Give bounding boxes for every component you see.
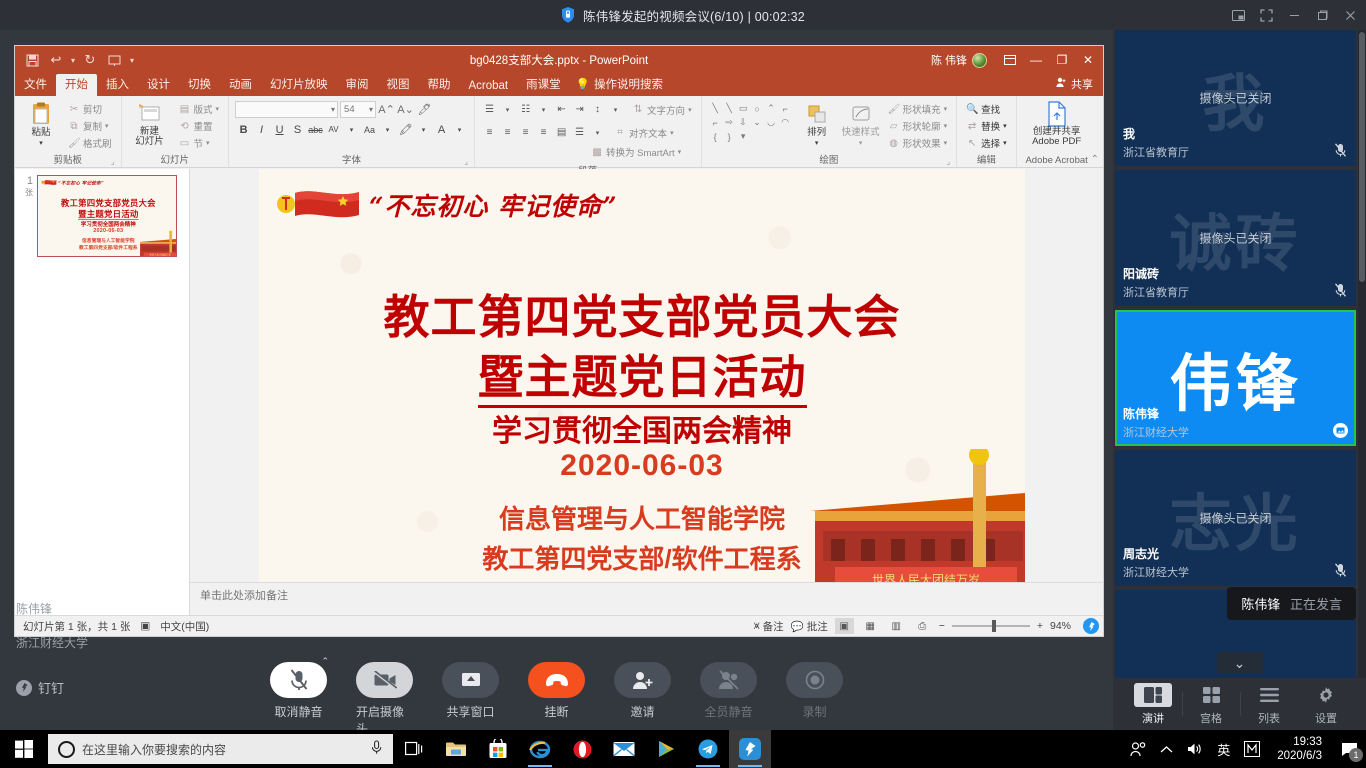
layout-icon: ▤ [179,104,191,115]
paragraph-row-top: ☰ ▾ ☷ ▾ ⇤ ⇥ ↕ ▾ ⇅ 文字方向 ▾ [479,98,697,121]
mic-muted-icon [1332,282,1348,298]
share-window-control[interactable]: 共享窗口 [442,662,499,737]
paste-button[interactable]: 粘贴 ▾ [19,98,63,149]
shapes-more-icon[interactable]: ▾ [737,130,750,143]
text-direction-button[interactable]: ⇅ 文字方向 ▾ [629,102,695,118]
new-slide-icon [139,101,161,127]
participant-org: 浙江省教育厅 [1123,144,1189,160]
arrange-button[interactable]: 排列 ▾ [795,98,839,149]
change-case-icon[interactable]: Aa [361,121,378,138]
participant-name: 阳诚砖 [1123,265,1159,282]
dialog-launcher-icon[interactable]: ⌟ [946,157,950,166]
shapes-scroll-down-icon[interactable]: ⌄ [751,116,764,129]
chevron-down-icon: ▾ [688,106,692,114]
hangup-control[interactable]: 挂断 [528,662,585,737]
bullets-icon[interactable]: ☰ [481,101,498,118]
participant-tiles: 我 摄像头已关闭 我 浙江省教育厅 诚砖 摄像头已关闭 阳诚砖 浙江省教育厅 伟… [1113,30,1358,678]
mail-icon[interactable] [603,730,645,768]
replace-button[interactable]: ⇄ 替换 ▾ [963,118,1010,134]
reset-icon: ⟲ [179,121,191,132]
show-hidden-icons-icon[interactable] [1153,730,1180,768]
shape-brace-right-icon[interactable]: } [723,130,736,143]
section-dropdown-icon: ▾ [206,139,210,147]
dialog-launcher-icon[interactable]: ⌟ [464,157,468,166]
close-icon[interactable] [1343,8,1358,23]
file-explorer-icon[interactable] [435,730,477,768]
local-user-name-overlay: 陈伟锋 [16,600,52,617]
mute-all-label: 全员静音 [704,703,752,720]
zoom-slider-thumb[interactable] [992,620,996,632]
mute-all-icon[interactable] [700,662,757,698]
chevron-down-icon[interactable]: ▾ [343,121,360,138]
smartart-label: 转换为 SmartArt [606,145,675,159]
copy-icon: ⧉ [68,121,80,132]
new-slide-button[interactable]: 新建 幻灯片 [126,98,174,147]
share-screen-icon[interactable] [442,662,499,698]
slides-group-label: 幻灯片 [126,152,225,167]
internet-explorer-icon[interactable] [519,730,561,768]
editing-group-label: 编辑 [961,152,1012,167]
increase-indent-icon[interactable]: ⇥ [571,101,588,118]
participant-rail: 我 摄像头已关闭 我 浙江省教育厅 诚砖 摄像头已关闭 阳诚砖 浙江省教育厅 伟… [1113,30,1366,730]
ribbon-group-drawing: ╲ ╲ ▭ ○ ⌃ ⌐ ⌐ ⇨ ⇩ ⌄ ◡ ◠ { } ▾ [702,96,958,167]
zoom-level[interactable]: 94% [1050,620,1071,632]
slide-title-line2: 暨主题党日活动 [38,208,177,220]
cut-button[interactable]: ✂ 剪切 [65,101,115,117]
clipboard-label-text: 剪贴板 [54,155,83,166]
clock-date: 2020/6/3 [1277,749,1322,763]
chevron-down-icon: ▾ [815,138,819,149]
increase-font-size-icon[interactable]: A⌃ [378,101,395,118]
select-label: 选择 [981,136,1000,150]
slide-thumbnail[interactable]: “不忘初心 牢记使命” 教工第四党支部党员大会 暨主题党日活动 学习贯彻全国两会… [37,175,177,257]
status-left: 幻灯片第 1 张，共 1 张 ▣ 中文(中国) [15,619,209,634]
view-mode-speaker-label: 演讲 [1142,710,1164,726]
status-right: ⩙ 备注 💬 批注 ▣ ▦ ▥ ⎙ − + 94% ⛶ [754,618,1103,634]
accessibility-icon[interactable]: ▣ [140,620,150,632]
shape-elbow2-icon[interactable]: ⌐ [709,116,722,129]
chevron-down-icon: ▾ [678,148,682,156]
chevron-down-icon[interactable]: ▾ [379,121,396,138]
maximize-icon[interactable] [1315,8,1330,23]
call-controls: ⌃ 取消静音 开启摄像头 共享窗口 挂断 [0,662,1113,737]
share-window-label: 共享窗口 [446,703,494,720]
paragraph-row-bottom: ≡ ≡ ≡ ≡ ▤ ☰ ▾ ⌗ 对齐文本 ▾ [479,121,679,144]
shapes-scroll-up-icon[interactable]: ⌃ [765,102,778,115]
quick-styles-icon [850,101,872,127]
view-mode-list-label: 列表 [1258,710,1280,726]
powerpoint-window-right: 陈 伟锋 — ❐ ✕ [931,48,1103,72]
slides-small-buttons: ▤ 版式 ▾ ⟲ 重置 ▭ 节 ▾ [174,98,225,151]
participant-tile-active[interactable]: 伟锋 陈伟锋 浙江财经大学 [1115,310,1356,446]
grid-view-icon [1192,683,1230,707]
shape-effects-icon: ◍ [888,138,900,149]
drawing-group-label: 绘图 ⌟ [706,152,953,167]
dingtalk-icon[interactable] [729,730,771,768]
select-button[interactable]: ↖ 选择 ▾ [963,135,1010,151]
tiananmen-image: 世界人民大团结万岁 [775,449,1025,599]
view-mode-grid[interactable]: 宫格 [1183,683,1240,726]
hangup-icon[interactable] [528,662,585,698]
ribbon-group-paragraph: ☰ ▾ ☷ ▾ ⇤ ⇥ ↕ ▾ ⇅ 文字方向 ▾ [475,96,702,167]
reset-button[interactable]: ⟲ 重置 [176,118,223,134]
speaking-name: 陈伟锋 [1241,597,1280,612]
shape-arrow-right-icon[interactable]: ⇨ [723,116,736,129]
shape-effects-label: 形状效果 [903,136,941,150]
columns-icon[interactable]: ☰ [571,124,588,141]
paintbrush-icon: 🖌 [68,138,80,149]
shape-outline-button[interactable]: ▱ 形状轮廓 ▾ [885,118,951,134]
align-center-icon[interactable]: ≡ [499,124,516,141]
quick-styles-label: 快速样式 [842,127,880,138]
copy-dropdown-icon: ▾ [105,122,109,130]
shape-arrow-down-icon[interactable]: ⇩ [737,116,750,129]
comments-toggle-button[interactable]: 💬 批注 [791,619,828,634]
chevron-down-icon: ▾ [369,105,373,114]
hangup-label: 挂断 [544,703,568,720]
speaking-status: 正在发言 [1290,597,1342,612]
minimize-icon[interactable]: — [1023,48,1049,72]
powerpoint-status-bar: 幻灯片第 1 张，共 1 张 ▣ 中文(中国) ⩙ 备注 💬 批注 ▣ ▦ ▥ [15,615,1103,636]
customize-qat-icon[interactable]: ▾ [127,49,137,71]
picture-in-picture-icon[interactable] [1231,8,1246,23]
speaking-toast: 陈伟锋 正在发言 [1227,587,1356,620]
shape-curve2-icon[interactable]: ◠ [779,116,792,129]
tab-home[interactable]: 开始 [56,74,97,96]
meeting-title-bar: 陈伟锋发起的视频会议(6/10) | 00:02:32 [0,0,1366,30]
convert-to-smartart-button[interactable]: ▩ 转换为 SmartArt ▾ [588,144,684,160]
invite-icon[interactable] [614,662,671,698]
find-button[interactable]: 🔍 查找 [963,101,1010,117]
task-view-icon[interactable] [393,730,435,768]
notes-pane[interactable]: 单击此处添加备注 [190,582,1103,614]
text-shadow-icon[interactable]: S [289,121,306,138]
chevron-down-icon: ▾ [859,138,863,149]
ribbon-group-slides: 新建 幻灯片 ▤ 版式 ▾ ⟲ 重置 ▭ [122,96,230,167]
section-icon: ▭ [179,138,191,149]
zoom-slider[interactable] [952,625,1030,627]
notification-center-icon[interactable]: 1 [1332,730,1366,768]
format-painter-button[interactable]: 🖌 格式刷 [65,135,115,151]
replace-label: 替换 [981,119,1000,133]
unmute-label: 取消静音 [274,703,322,720]
font-family-select[interactable]: ▾ [235,101,338,118]
participant-name: 周志光 [1123,545,1159,562]
camera-off-label: 摄像头已关闭 [1115,90,1356,107]
powerpoint-title-bar: ↩ ▾ ↻ ▾ bg0428支部大会.pptx - PowerPoint 陈 伟… [15,46,1103,74]
normal-view-icon[interactable]: ▣ [835,618,854,634]
microsoft-store-icon[interactable] [477,730,519,768]
notes-toggle-button[interactable]: ⩙ 备注 [754,619,784,634]
italic-icon[interactable]: I [253,121,270,138]
slide-thumbnail-panel: 1 张 [15,169,190,636]
text-direction-label: 文字方向 [647,103,685,117]
mic-muted-icon [1332,562,1348,578]
clock-time: 19:33 [1293,735,1322,749]
create-share-pdf-button[interactable]: 创建并共享 Adobe PDF [1021,98,1093,147]
invite-label: 邀请 [630,703,654,720]
chevron-down-icon: ▾ [331,105,335,114]
gear-icon [1307,683,1345,707]
tab-acrobat[interactable]: Acrobat [460,78,518,96]
undo-icon[interactable]: ↩ [45,49,67,71]
ribbon: 粘贴 ▾ ✂ 剪切 ⧉ 复制 ▾ [15,96,1103,168]
paste-icon [30,101,52,127]
share-person-icon [1056,77,1067,91]
chevron-down-icon: ⌄ [1234,655,1246,672]
unmute-control[interactable]: ⌃ 取消静音 [270,662,327,737]
avatar[interactable] [972,53,987,68]
paragraph-row-smartart: ▩ 转换为 SmartArt ▾ [479,144,686,163]
chevron-down-icon[interactable]: ▾ [607,101,624,118]
view-mode-speaker[interactable]: 演讲 [1125,683,1182,726]
media-player-icon[interactable] [645,730,687,768]
comments-toggle-label: 批注 [807,619,828,634]
slide-editing-area: “不忘初心 牢记使命” 教工第四党支部党员大会 暨主题党日活动 学习贯彻全国两会… [190,169,1103,636]
clear-formatting-icon[interactable]: 🖊 [416,101,433,118]
slide-subtitle: 学习贯彻全国两会精神 [259,406,1025,450]
windows-taskbar: 在这里输入你要搜索的内容 [0,730,1366,768]
shape-outline-icon: ▱ [888,121,900,132]
strikethrough-icon[interactable]: abc [307,121,324,138]
comment-icon: 💬 [791,620,804,633]
ribbon-group-acrobat: 创建并共享 Adobe PDF Adobe Acrobat [1017,96,1097,167]
drawing-small-buttons: 🖌 形状填充 ▾ ▱ 形状轮廓 ▾ ◍ 形状效果 ▾ [883,98,953,151]
notification-count: 1 [1349,748,1363,762]
shape-curve-icon[interactable]: ◡ [765,116,778,129]
slide-number-text: 1 [27,175,33,187]
participant-scrollbar[interactable] [1358,30,1366,678]
shape-fill-icon: 🖌 [888,104,900,115]
view-mode-list[interactable]: 列表 [1241,683,1298,726]
svg-text:世界人民大团结万岁: 世界人民大团结万岁 [150,253,172,257]
tab-transitions[interactable]: 切换 [179,74,220,96]
close-icon[interactable]: ✕ [1075,48,1101,72]
participant-org: 浙江财经大学 [1123,424,1189,440]
local-user-org-overlay: 浙江财经大学 [16,634,88,651]
chevron-down-icon[interactable]: ▾ [451,121,468,138]
line-spacing-icon[interactable]: ↕ [589,101,606,118]
tab-animations[interactable]: 动画 [220,74,261,96]
font-label-text: 字体 [342,155,361,166]
shape-rectangle-icon[interactable]: ▭ [737,102,750,115]
quick-access-toolbar: ↩ ▾ ↻ ▾ [15,49,137,71]
ribbon-group-editing: 🔍 查找 ⇄ 替换 ▾ ↖ 选择 ▾ [957,96,1017,167]
chevron-down-icon: ▾ [1003,139,1007,147]
start-button[interactable] [0,730,48,768]
clipboard-group-label: 剪贴板 ⌟ [19,152,117,167]
align-text-icon: ⌗ [614,127,626,138]
decrease-font-size-icon[interactable]: A⌄ [397,101,414,118]
scroll-down-button[interactable]: ⌄ [1217,652,1263,674]
text-highlight-icon[interactable]: 🖍 [397,121,414,138]
clock[interactable]: 19:33 2020/6/3 [1267,730,1332,768]
quick-styles-button[interactable]: 快速样式 ▾ [839,98,883,149]
mic-muted-icon[interactable]: ⌃ [270,662,327,698]
participant-tile[interactable]: 诚砖 摄像头已关闭 阳诚砖 浙江省教育厅 [1115,170,1356,306]
share-button[interactable]: 共享 [1046,74,1103,96]
slide-count-status[interactable]: 幻灯片第 1 张，共 1 张 [23,619,130,634]
list-view-icon [1250,683,1288,707]
tab-view[interactable]: 视图 [378,74,419,96]
powerpoint-workspace: 1 张 [15,169,1103,636]
zoom-out-icon[interactable]: − [939,620,945,632]
shape-effects-button[interactable]: ◍ 形状效果 ▾ [885,135,951,151]
shape-brace-left-icon[interactable]: { [709,130,722,143]
layout-label: 版式 [194,102,213,116]
dialog-launcher-icon[interactable]: ⌟ [111,157,115,166]
paste-dropdown-icon[interactable]: ▾ [39,138,43,149]
section-label: 节 [194,136,204,150]
character-spacing-icon[interactable]: AV [325,121,342,138]
redo-icon[interactable]: ↻ [79,49,101,71]
view-mode-grid-label: 宫格 [1200,710,1222,726]
participant-name: 陈伟锋 [1123,405,1159,422]
participant-name: 我 [1123,125,1135,142]
tab-slideshow[interactable]: 幻灯片放映 [261,74,337,96]
slide-number: 1 张 [19,175,33,257]
scissors-icon: ✂ [68,104,80,115]
slide-canvas[interactable]: “不忘初心 牢记使命” 教工第四党支部党员大会 暨主题党日活动 学习贯彻全国两会… [259,169,1025,599]
dingtalk-share-indicator-icon [1083,618,1099,634]
lightbulb-icon: 💡 [576,77,590,91]
underline-icon[interactable]: U [271,121,288,138]
mic-muted-icon [1332,142,1348,158]
editing-buttons: 🔍 查找 ⇄ 替换 ▾ ↖ 选择 ▾ [961,98,1012,151]
camera-off-icon[interactable] [356,662,413,698]
telegram-icon[interactable] [687,730,729,768]
chevron-down-icon[interactable]: ▾ [415,121,432,138]
bold-icon[interactable]: B [235,121,252,138]
distribute-icon[interactable]: ▤ [553,124,570,141]
invite-control[interactable]: 邀请 [614,662,671,737]
screen: 陈伟锋发起的视频会议(6/10) | 00:02:32 [0,0,1366,768]
font-color-icon[interactable]: A [433,121,450,138]
mute-all-control[interactable]: 全员静音 [700,662,757,737]
tab-insert[interactable]: 插入 [97,74,138,96]
ribbon-tabs: 文件 开始 插入 设计 切换 动画 幻灯片放映 审阅 视图 帮助 Acrobat… [15,74,1103,96]
tab-help[interactable]: 帮助 [419,74,460,96]
collapse-ribbon-icon[interactable]: ⌃ [1091,154,1099,165]
chevron-down-icon[interactable]: ▾ [535,101,552,118]
opera-icon[interactable] [561,730,603,768]
slide-number-sub: 张 [19,187,33,199]
chevron-down-icon: ▾ [944,122,948,130]
undo-dropdown-icon[interactable]: ▾ [69,49,77,71]
language-status[interactable]: 中文(中国) [160,619,209,634]
tell-me-box[interactable]: 💡 操作说明搜索 [570,74,669,96]
microphone-icon[interactable] [370,740,387,758]
tell-me-label: 操作说明搜索 [594,76,663,92]
shape-line-icon[interactable]: ╲ [709,102,722,115]
save-icon[interactable] [21,49,43,71]
justify-icon[interactable]: ≡ [535,124,552,141]
shape-elbow-icon[interactable]: ⌐ [779,102,792,115]
zoom-in-icon[interactable]: + [1037,620,1043,632]
thumbnail-preview: “不忘初心 牢记使命” 教工第四党支部党员大会 暨主题党日活动 学习贯彻全国两会… [38,176,177,257]
chevron-down-icon[interactable]: ▾ [589,124,606,141]
shapes-gallery[interactable]: ╲ ╲ ▭ ○ ⌃ ⌐ ⌐ ⇨ ⇩ ⌄ ◡ ◠ { } ▾ [706,98,795,143]
participant-org: 浙江财经大学 [1123,564,1189,580]
scrollbar-thumb[interactable] [1359,32,1365,282]
arrange-icon [806,101,828,127]
slide-title-line2-text: 暨主题党日活动 [478,351,807,408]
record-label: 录制 [802,703,826,720]
align-right-icon[interactable]: ≡ [517,124,534,141]
volume-icon[interactable] [1180,730,1210,768]
camera-control[interactable]: 开启摄像头 [356,662,413,737]
reading-view-icon[interactable]: ▥ [887,618,906,634]
create-share-pdf-label: 创建并共享 Adobe PDF [1032,127,1081,147]
participant-tile[interactable]: 我 摄像头已关闭 我 浙江省教育厅 [1115,30,1356,166]
align-text-button[interactable]: ⌗ 对齐文本 ▾ [611,125,677,141]
shape-fill-button[interactable]: 🖌 形状填充 ▾ [885,101,951,117]
slide-sorter-icon[interactable]: ▦ [861,618,880,634]
shape-line2-icon[interactable]: ╲ [723,102,736,115]
record-icon[interactable] [786,662,843,698]
chevron-down-icon: ▾ [944,105,948,113]
font-size-select[interactable]: 54 ▾ [340,101,376,118]
system-tray: 英 19:33 2020/6/3 1 [1123,730,1366,768]
people-icon[interactable] [1123,730,1153,768]
reset-label: 重置 [194,119,213,133]
ime-mode-icon[interactable] [1237,730,1267,768]
slideshow-icon[interactable]: ⎙ [913,618,932,634]
cortana-icon [58,741,75,758]
tab-review[interactable]: 审阅 [337,74,378,96]
layout-dropdown-icon: ▾ [216,105,220,113]
search-input[interactable]: 在这里输入你要搜索的内容 [48,734,393,764]
chevron-down-icon[interactable]: ▾ [499,101,516,118]
shape-outline-label: 形状轮廓 [903,119,941,133]
layout-button[interactable]: ▤ 版式 ▾ [176,101,223,117]
arrange-label: 排列 [807,127,826,138]
meeting-title: 陈伟锋发起的视频会议(6/10) | 00:02:32 [583,6,805,25]
shape-fill-label: 形状填充 [903,102,941,116]
tab-rain-classroom[interactable]: 雨课堂 [517,74,570,96]
slide-slogan: “不忘初心 牢记使命” [369,187,617,223]
chevron-up-icon[interactable]: ⌃ [321,656,329,667]
font-row-top: ▾ 54 ▾ A⌃ A⌄ 🖊 [233,98,435,120]
new-slide-label: 新建 幻灯片 [135,127,164,147]
camera-off-label: 摄像头已关闭 [1115,230,1356,247]
thumbnail-row: 1 张 [19,175,185,257]
decrease-indent-icon[interactable]: ⇤ [553,101,570,118]
copy-label: 复制 [83,119,102,133]
tab-design[interactable]: 设计 [138,74,179,96]
start-presentation-icon[interactable] [103,49,125,71]
shape-oval-icon[interactable]: ○ [751,102,764,115]
numbering-icon[interactable]: ☷ [517,101,534,118]
participant-tile[interactable]: 志光 摄像头已关闭 周志光 浙江财经大学 [1115,450,1356,586]
camera-off-label: 摄像头已关闭 [1115,510,1356,527]
tab-file[interactable]: 文件 [15,74,56,96]
align-left-icon[interactable]: ≡ [481,124,498,141]
restore-icon[interactable]: ❐ [1049,48,1075,72]
record-control[interactable]: 录制 [786,662,843,737]
view-mode-settings[interactable]: 设置 [1298,683,1355,726]
minimize-icon[interactable] [1287,8,1302,23]
find-label: 查找 [981,102,1000,116]
font-size-value: 54 [344,104,355,115]
ime-icon[interactable]: 英 [1210,730,1237,768]
ribbon-display-options-icon[interactable] [997,48,1023,72]
fullscreen-icon[interactable] [1259,8,1274,23]
section-button[interactable]: ▭ 节 ▾ [176,135,223,151]
notes-icon: ⩙ [754,620,760,633]
account-name[interactable]: 陈 伟锋 [931,52,967,68]
copy-button[interactable]: ⧉ 复制 ▾ [65,118,115,134]
